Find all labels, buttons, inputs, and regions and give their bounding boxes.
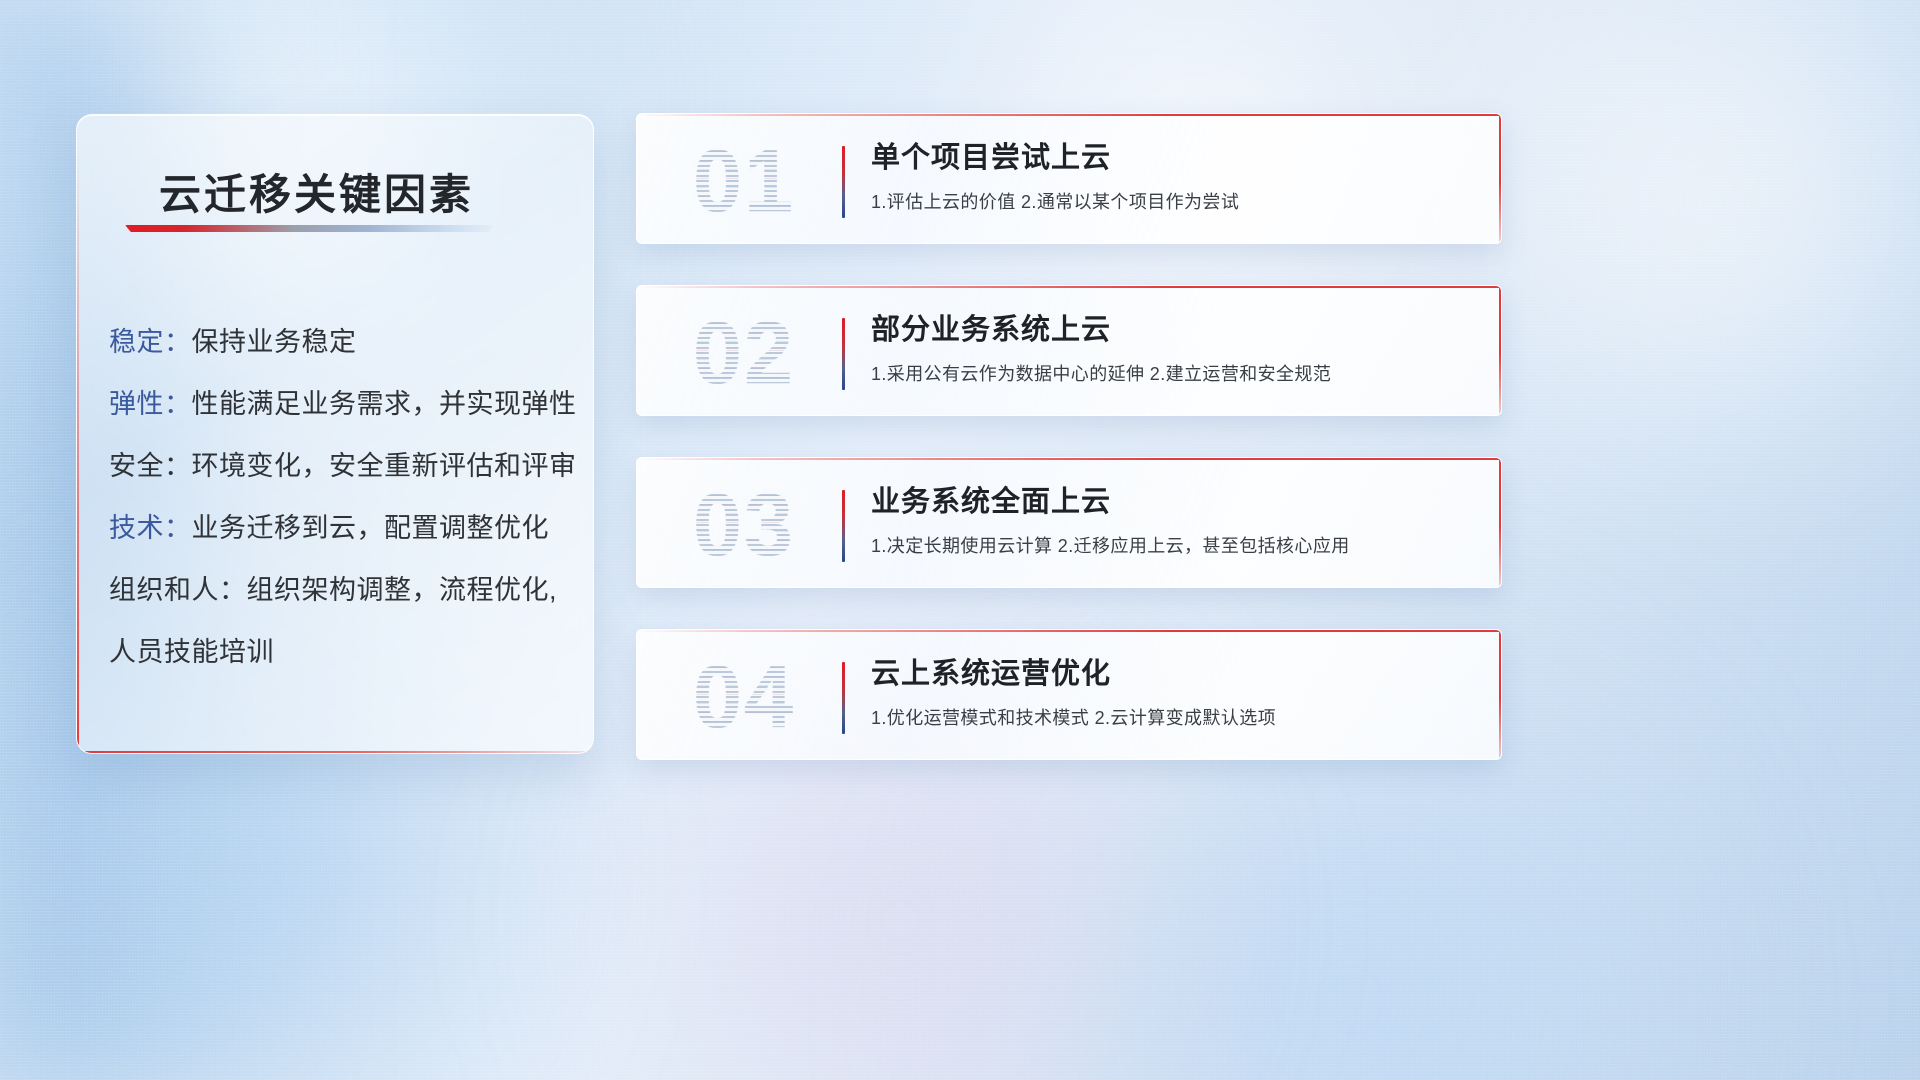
stage-number-watermark: 04 xyxy=(659,636,829,758)
stage-card[interactable]: 0101单个项目尝试上云1.评估上云的价值 2.通常以某个项目作为尝试 xyxy=(636,113,1502,244)
card-subtitle: 1.优化运营模式和技术模式 2.云计算变成默认选项 xyxy=(871,704,1481,730)
key-factor-row: 弹性：性能满足业务需求，并实现弹性 xyxy=(109,373,569,435)
card-subtitle: 1.评估上云的价值 2.通常以某个项目作为尝试 xyxy=(871,188,1481,214)
key-factor-label: 安全： xyxy=(109,451,192,481)
card-title: 单个项目尝试上云 xyxy=(871,136,1481,180)
card-body: 业务系统全面上云1.决定长期使用云计算 2.迁移应用上云，甚至包括核心应用 xyxy=(871,480,1481,558)
key-factor-row: 稳定：保持业务稳定 xyxy=(109,311,569,373)
key-factor-label: 稳定： xyxy=(109,327,192,357)
key-factor-text: 保持业务稳定 xyxy=(192,327,357,357)
card-accent-top-border xyxy=(637,458,1501,460)
card-title: 云上系统运营优化 xyxy=(871,652,1481,696)
key-factor-row: 人员技能培训 xyxy=(109,621,569,683)
key-factor-text: 组织架构调整，流程优化, xyxy=(247,575,558,605)
migration-stage-cards: 0101单个项目尝试上云1.评估上云的价值 2.通常以某个项目作为尝试0202部… xyxy=(636,113,1502,801)
card-body: 单个项目尝试上云1.评估上云的价值 2.通常以某个项目作为尝试 xyxy=(871,136,1481,214)
key-factor-row: 技术：业务迁移到云，配置调整优化 xyxy=(109,497,569,559)
stage-card[interactable]: 0303业务系统全面上云1.决定长期使用云计算 2.迁移应用上云，甚至包括核心应… xyxy=(636,457,1502,588)
card-body: 云上系统运营优化1.优化运营模式和技术模式 2.云计算变成默认选项 xyxy=(871,652,1481,730)
key-factor-row: 安全：环境变化，安全重新评估和评审 xyxy=(109,435,569,497)
card-accent-top-border xyxy=(637,630,1501,632)
stage-number-watermark: 01 xyxy=(659,120,829,242)
stage-number-watermark: 02 xyxy=(659,292,829,414)
card-accent-right-border xyxy=(1499,286,1501,415)
key-factors-list: 稳定：保持业务稳定弹性：性能满足业务需求，并实现弹性安全：环境变化，安全重新评估… xyxy=(109,311,569,683)
card-divider-bar xyxy=(842,662,845,734)
key-factor-text: 人员技能培训 xyxy=(109,637,274,667)
card-subtitle: 1.采用公有云作为数据中心的延伸 2.建立运营和安全规范 xyxy=(871,360,1481,386)
card-divider-bar xyxy=(842,146,845,218)
card-body: 部分业务系统上云1.采用公有云作为数据中心的延伸 2.建立运营和安全规范 xyxy=(871,308,1481,386)
key-factor-text: 环境变化，安全重新评估和评审 xyxy=(192,451,577,481)
card-divider-bar xyxy=(842,318,845,390)
key-factor-label: 组织和人： xyxy=(109,575,247,605)
key-factor-row: 组织和人：组织架构调整，流程优化, xyxy=(109,559,569,621)
stage-card[interactable]: 0202部分业务系统上云1.采用公有云作为数据中心的延伸 2.建立运营和安全规范 xyxy=(636,285,1502,416)
page-title: 云迁移关键因素 xyxy=(159,161,474,222)
card-title: 部分业务系统上云 xyxy=(871,308,1481,352)
title-underline-rule xyxy=(125,225,493,232)
card-accent-top-border xyxy=(637,114,1501,116)
stage-number-watermark: 03 xyxy=(659,464,829,586)
card-subtitle: 1.决定长期使用云计算 2.迁移应用上云，甚至包括核心应用 xyxy=(871,532,1481,558)
key-factors-panel: 云迁移关键因素 稳定：保持业务稳定弹性：性能满足业务需求，并实现弹性安全：环境变… xyxy=(76,114,594,754)
card-divider-bar xyxy=(842,490,845,562)
key-factor-label: 技术： xyxy=(109,513,192,543)
stage-card[interactable]: 0404云上系统运营优化1.优化运营模式和技术模式 2.云计算变成默认选项 xyxy=(636,629,1502,760)
key-factor-text: 性能满足业务需求，并实现弹性 xyxy=(192,389,577,419)
key-factor-text: 业务迁移到云，配置调整优化 xyxy=(192,513,550,543)
card-accent-right-border xyxy=(1499,630,1501,759)
card-accent-right-border xyxy=(1499,458,1501,587)
card-accent-top-border xyxy=(637,286,1501,288)
slide-stage: 云迁移关键因素 稳定：保持业务稳定弹性：性能满足业务需求，并实现弹性安全：环境变… xyxy=(0,0,1920,1080)
key-factor-label: 弹性： xyxy=(109,389,192,419)
card-title: 业务系统全面上云 xyxy=(871,480,1481,524)
card-accent-right-border xyxy=(1499,114,1501,243)
